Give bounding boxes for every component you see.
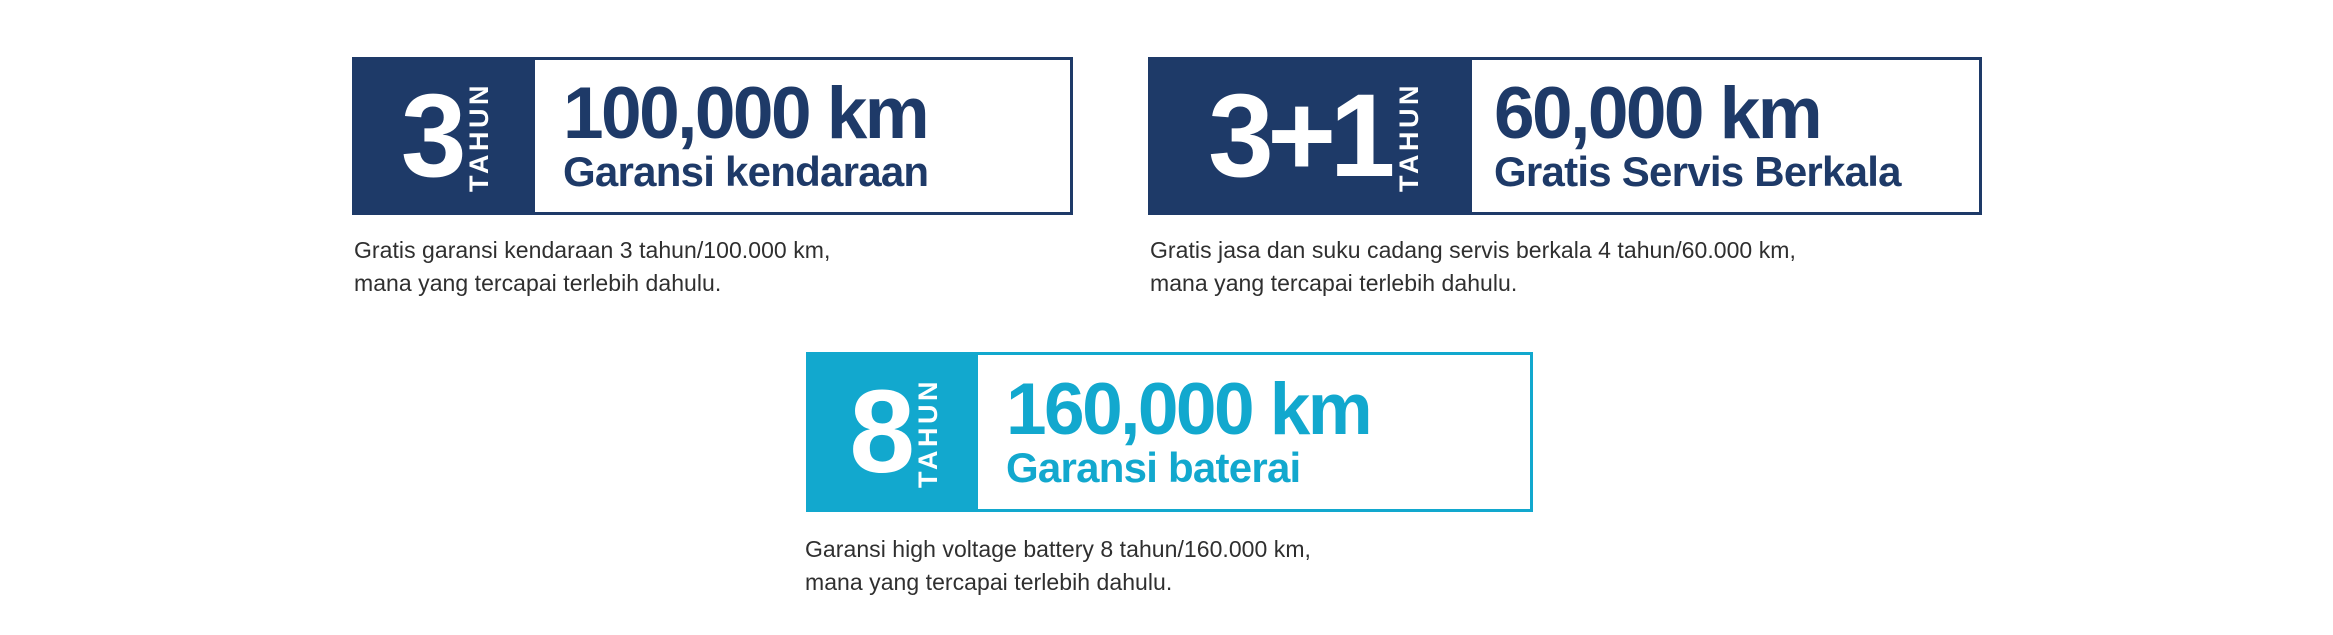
service-title: Gratis Servis Berkala [1494,151,1979,193]
battery-badge-group: 8 TAHUN 160,000 km Garansi baterai Garan… [806,352,1533,598]
battery-caption: Garansi high voltage battery 8 tahun/160… [805,533,1533,598]
battery-text-panel: 160,000 km Garansi baterai [978,355,1530,509]
warranty-text-panel: 100,000 km Garansi kendaraan [535,60,1070,212]
warranty-period-label: TAHUN [466,82,493,192]
battery-year-number: 8 [849,384,908,481]
battery-distance: 160,000 km [1006,375,1530,444]
warranty-distance: 100,000 km [563,79,1070,148]
battery-period-label: TAHUN [915,378,942,488]
battery-title: Garansi baterai [1006,447,1530,489]
service-badge: 3+1 TAHUN 60,000 km Gratis Servis Berkal… [1148,57,1982,215]
warranty-caption: Gratis garansi kendaraan 3 tahun/100.000… [354,234,1073,299]
battery-year-block: 8 TAHUN [809,355,978,509]
service-year-block: 3+1 TAHUN [1151,60,1472,212]
service-badge-group: 3+1 TAHUN 60,000 km Gratis Servis Berkal… [1148,57,1982,299]
service-caption: Gratis jasa dan suku cadang servis berka… [1150,234,1982,299]
service-year-number: 3+1 [1208,88,1389,185]
service-period-label: TAHUN [1396,82,1423,192]
service-text-panel: 60,000 km Gratis Servis Berkala [1472,60,1979,212]
service-distance: 60,000 km [1494,79,1979,148]
warranty-badge: 3 TAHUN 100,000 km Garansi kendaraan [352,57,1073,215]
warranty-badge-group: 3 TAHUN 100,000 km Garansi kendaraan Gra… [352,57,1073,299]
warranty-year-block: 3 TAHUN [355,60,535,212]
warranty-title: Garansi kendaraan [563,151,1070,193]
battery-badge: 8 TAHUN 160,000 km Garansi baterai [806,352,1533,512]
warranty-year-number: 3 [401,88,460,185]
